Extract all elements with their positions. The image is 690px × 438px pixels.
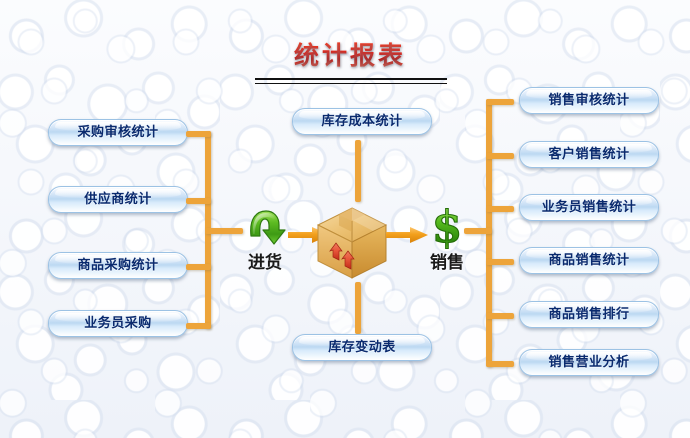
connector-right-branch-6 — [486, 361, 514, 367]
statistics-report-diagram: 统计报表 采购审核统计 供应商统计 商品采购统计 业务员采购 库存成本统计 库存… — [0, 0, 690, 438]
connector-center-bottom-stem — [355, 282, 361, 334]
report-button-product-sales-ranking[interactable]: 商品销售排行 — [519, 301, 659, 328]
report-button-inventory-movement[interactable]: 库存变动表 — [292, 334, 432, 361]
connector-center-top-stem — [355, 140, 361, 202]
report-button-salesperson-purchase[interactable]: 业务员采购 — [48, 310, 188, 337]
cardboard-box-icon — [313, 205, 391, 283]
connector-right-branch-1 — [486, 99, 514, 105]
report-button-salesperson-sales[interactable]: 业务员销售统计 — [519, 194, 659, 221]
connector-right-branch-5 — [486, 313, 514, 319]
connector-left-branch-2 — [186, 198, 211, 204]
svg-text:$: $ — [432, 204, 463, 250]
title-underline-rule — [255, 78, 447, 84]
report-button-product-purchase[interactable]: 商品采购统计 — [48, 252, 188, 279]
connector-left-stem — [205, 228, 243, 234]
connector-left-branch-3 — [186, 264, 211, 270]
page-title-wrapper: 统计报表 — [255, 40, 445, 72]
green-dollar-sign-icon: $ — [424, 204, 470, 250]
report-button-customer-sales[interactable]: 客户销售统计 — [519, 141, 659, 168]
report-button-sales-audit[interactable]: 销售审核统计 — [519, 87, 659, 114]
connector-left-branch-4 — [186, 323, 211, 329]
flow-label-inbound: 进货 — [230, 248, 300, 273]
report-button-sales-business-analysis[interactable]: 销售营业分析 — [519, 349, 659, 376]
page-title: 统计报表 — [255, 40, 445, 72]
connector-right-stem — [464, 228, 492, 234]
green-curved-down-arrow-icon — [243, 206, 287, 250]
report-button-purchase-audit[interactable]: 采购审核统计 — [48, 119, 188, 146]
connector-right-branch-4 — [486, 259, 514, 265]
connector-right-branch-2 — [486, 153, 514, 159]
report-button-product-sales[interactable]: 商品销售统计 — [519, 247, 659, 274]
connector-right-branch-3 — [486, 206, 514, 212]
report-button-supplier[interactable]: 供应商统计 — [48, 186, 188, 213]
orange-right-arrow-icon-2 — [386, 227, 428, 243]
connector-left-branch-1 — [186, 131, 211, 137]
flow-label-outbound: 销售 — [412, 248, 482, 273]
report-button-inventory-cost[interactable]: 库存成本统计 — [292, 108, 432, 135]
